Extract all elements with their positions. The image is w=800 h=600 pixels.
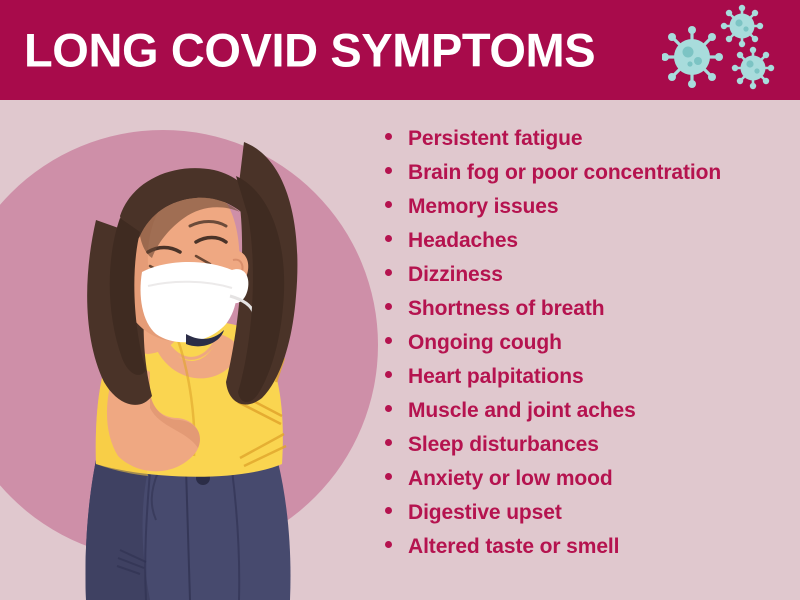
virus-small-top-icon <box>721 5 763 47</box>
symptom-label: Brain fog or poor concentration <box>408 162 721 183</box>
symptom-label: Headaches <box>408 230 518 251</box>
symptom-item: Sleep disturbances <box>385 434 790 468</box>
symptom-label: Digestive upset <box>408 502 562 523</box>
header-banner: LONG COVID SYMPTOMS <box>0 0 800 100</box>
symptom-item: Persistent fatigue <box>385 128 790 162</box>
virus-cluster-icon <box>662 4 782 96</box>
symptom-list: Persistent fatigueBrain fog or poor conc… <box>385 128 790 570</box>
symptom-item: Headaches <box>385 230 790 264</box>
woman-illustration <box>0 100 380 600</box>
symptom-item: Muscle and joint aches <box>385 400 790 434</box>
bullet-icon <box>385 337 392 344</box>
bullet-icon <box>385 269 392 276</box>
bullet-icon <box>385 133 392 140</box>
symptom-item: Anxiety or low mood <box>385 468 790 502</box>
symptom-item: Memory issues <box>385 196 790 230</box>
bullet-icon <box>385 201 392 208</box>
symptom-item: Shortness of breath <box>385 298 790 332</box>
symptom-label: Memory issues <box>408 196 558 217</box>
page-title: LONG COVID SYMPTOMS <box>24 27 595 74</box>
symptom-label: Persistent fatigue <box>408 128 582 149</box>
bullet-icon <box>385 303 392 310</box>
symptom-label: Ongoing cough <box>408 332 562 353</box>
bullet-icon <box>385 405 392 412</box>
symptom-label: Sleep disturbances <box>408 434 599 455</box>
virus-small-bottom-icon <box>732 47 774 89</box>
symptom-item: Brain fog or poor concentration <box>385 162 790 196</box>
symptom-item: Ongoing cough <box>385 332 790 366</box>
symptom-item: Digestive upset <box>385 502 790 536</box>
symptom-label: Muscle and joint aches <box>408 400 636 421</box>
bullet-icon <box>385 541 392 548</box>
symptom-item: Dizziness <box>385 264 790 298</box>
bullet-icon <box>385 371 392 378</box>
symptom-label: Shortness of breath <box>408 298 604 319</box>
symptom-label: Dizziness <box>408 264 503 285</box>
bullet-icon <box>385 235 392 242</box>
bullet-icon <box>385 507 392 514</box>
symptom-item: Altered taste or smell <box>385 536 790 570</box>
symptom-label: Altered taste or smell <box>408 536 619 557</box>
symptom-item: Heart palpitations <box>385 366 790 400</box>
virus-large-icon <box>662 26 723 88</box>
infographic-poster: LONG COVID SYMPTOMS <box>0 0 800 600</box>
bullet-icon <box>385 439 392 446</box>
bullet-icon <box>385 167 392 174</box>
symptom-label: Heart palpitations <box>408 366 584 387</box>
bullet-icon <box>385 473 392 480</box>
symptom-label: Anxiety or low mood <box>408 468 613 489</box>
